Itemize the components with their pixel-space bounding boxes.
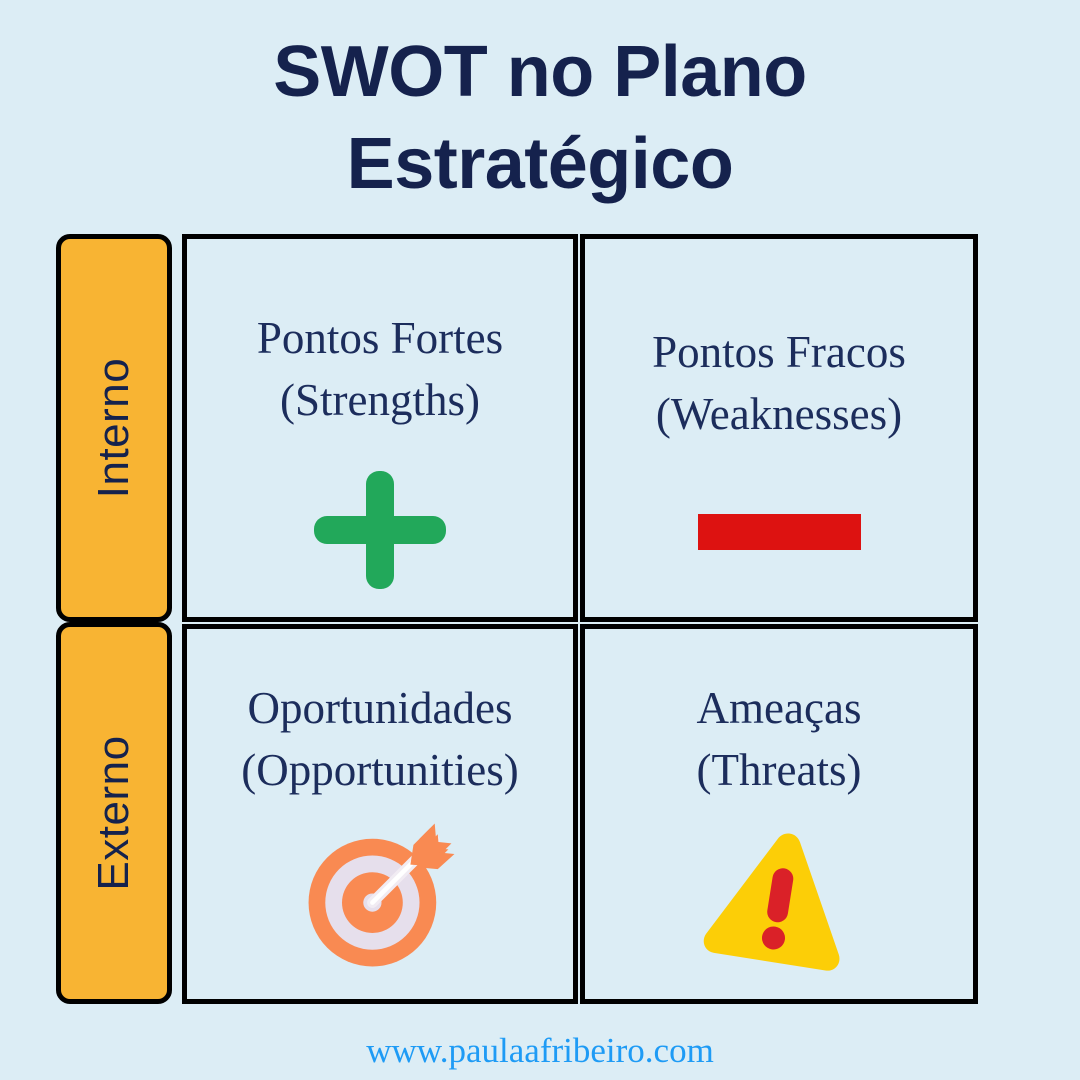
swot-infographic: SWOT no Plano Estratégico Interno Extern… — [0, 0, 1080, 1080]
quadrant-strengths-title-en: (Strengths) — [193, 369, 567, 431]
plus-icon — [314, 471, 446, 589]
page-title-line-1: SWOT no Plano — [0, 26, 1080, 118]
quadrant-strengths-title-pt: Pontos Fortes — [193, 307, 567, 369]
axis-row-internal: Interno — [56, 234, 172, 622]
quadrant-threats-title: Ameaças (Threats) — [585, 677, 973, 801]
plus-icon-vertical-bar — [366, 471, 394, 589]
quadrant-weaknesses-title-pt: Pontos Fracos — [591, 321, 967, 383]
quadrant-weaknesses-icon-area — [585, 497, 973, 567]
quadrant-weaknesses: Pontos Fracos (Weaknesses) — [580, 234, 978, 622]
quadrant-weaknesses-title-en: (Weaknesses) — [591, 383, 967, 445]
axis-row-internal-label: Interno — [89, 358, 139, 498]
target-bullseye-icon — [304, 819, 456, 971]
quadrant-opportunities-title: Oportunidades (Opportunities) — [187, 677, 573, 801]
axis-row-external: Externo — [56, 622, 172, 1004]
quadrant-strengths: Pontos Fortes (Strengths) — [182, 234, 578, 622]
warning-triangle-icon — [696, 820, 862, 980]
minus-icon — [698, 514, 861, 550]
quadrant-threats-title-en: (Threats) — [591, 739, 967, 801]
page-title: SWOT no Plano Estratégico — [0, 26, 1080, 210]
quadrant-threats-title-pt: Ameaças — [591, 677, 967, 739]
quadrant-opportunities: Oportunidades (Opportunities) — [182, 624, 578, 1004]
quadrant-opportunities-title-pt: Oportunidades — [193, 677, 567, 739]
quadrant-weaknesses-title: Pontos Fracos (Weaknesses) — [585, 321, 973, 445]
quadrant-opportunities-title-en: (Opportunities) — [193, 739, 567, 801]
quadrant-strengths-title: Pontos Fortes (Strengths) — [187, 307, 573, 431]
footer-website-url[interactable]: www.paulaafribeiro.com — [0, 1031, 1080, 1071]
quadrant-strengths-icon-area — [187, 467, 573, 593]
page-title-line-2: Estratégico — [0, 118, 1080, 210]
quadrant-opportunities-icon-area — [187, 815, 573, 975]
quadrant-threats-icon-area — [585, 815, 973, 985]
axis-row-external-label: Externo — [89, 735, 139, 890]
quadrant-threats: Ameaças (Threats) — [580, 624, 978, 1004]
swot-matrix: Interno Externo Pontos Fortes (Strengths… — [56, 232, 980, 1010]
